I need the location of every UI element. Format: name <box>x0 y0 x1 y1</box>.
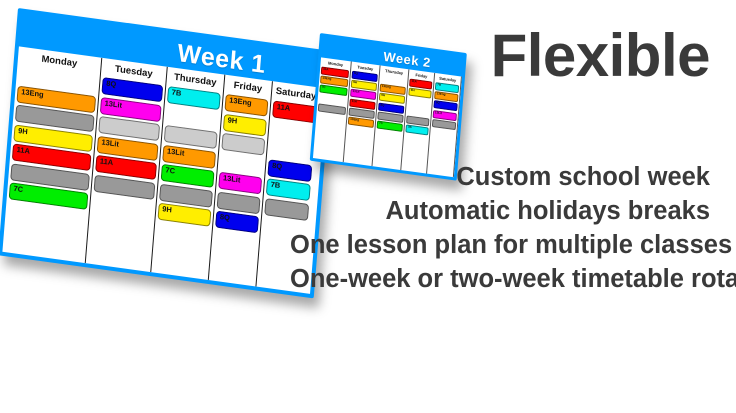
lesson-block[interactable]: 9H <box>223 113 267 136</box>
lesson-label: 8Q <box>272 161 283 171</box>
lesson-label: 9H <box>18 126 28 136</box>
lesson-label: 13Lit <box>167 147 185 158</box>
page-title: Flexible <box>290 26 710 86</box>
lesson-label: 8Q <box>106 80 117 90</box>
feature-item: Automatic holidays breaks <box>290 194 710 228</box>
lesson-label: 7C <box>13 185 23 195</box>
lesson-label: 13Lit <box>104 99 122 110</box>
lesson-slot[interactable]: 9H <box>223 113 267 136</box>
lesson-slot[interactable]: 13Lit <box>218 172 262 195</box>
day-column-monday[interactable]: Monday13Eng9H11A7C <box>2 46 102 263</box>
lesson-label: 13Eng <box>21 88 44 100</box>
lesson-slot[interactable] <box>221 133 265 156</box>
lesson-label: 13Lit <box>101 138 119 149</box>
week-1-board: Week 1 Monday13Eng9H11A7CTuesday8Q13Lit1… <box>0 8 334 298</box>
week-1-grid: Monday13Eng9H11A7CTuesday8Q13Lit13Lit11A… <box>2 46 326 293</box>
lesson-label: 7C <box>165 166 175 176</box>
lesson-label: 9H <box>162 205 172 215</box>
lesson-label: 13Eng <box>229 96 252 108</box>
feature-item: One lesson plan for multiple classes <box>290 228 710 262</box>
lesson-label: 11A <box>100 157 114 167</box>
empty-slot <box>220 152 264 175</box>
lesson-label: 8Q <box>220 213 231 223</box>
lesson-block[interactable] <box>217 191 261 214</box>
feature-item: Custom school week <box>290 160 710 194</box>
marketing-copy: Flexible Custom school weekAutomatic hol… <box>290 0 710 297</box>
feature-list: Custom school weekAutomatic holidays bre… <box>290 160 710 297</box>
lesson-label: 7B <box>270 181 280 191</box>
promo-slide: Week 1 Monday13Eng9H11A7CTuesday8Q13Lit1… <box>0 0 736 413</box>
lesson-label: 11A <box>277 103 291 113</box>
lesson-slot[interactable] <box>217 191 261 214</box>
week-1-panel[interactable]: Week 1 Monday13Eng9H11A7CTuesday8Q13Lit1… <box>0 8 334 298</box>
lesson-label: 9H <box>227 116 237 126</box>
lesson-block[interactable] <box>221 133 265 156</box>
lesson-slot[interactable]: 8Q <box>215 211 259 234</box>
lesson-block[interactable]: 13Lit <box>218 172 262 195</box>
lesson-label: 13Lit <box>223 174 241 185</box>
lesson-slot[interactable] <box>220 152 264 175</box>
lesson-block[interactable]: 8Q <box>215 211 259 234</box>
lesson-label: 11A <box>16 146 30 156</box>
lesson-label: 7B <box>171 89 181 99</box>
feature-item: One-week or two-week timetable rotations <box>290 262 710 296</box>
